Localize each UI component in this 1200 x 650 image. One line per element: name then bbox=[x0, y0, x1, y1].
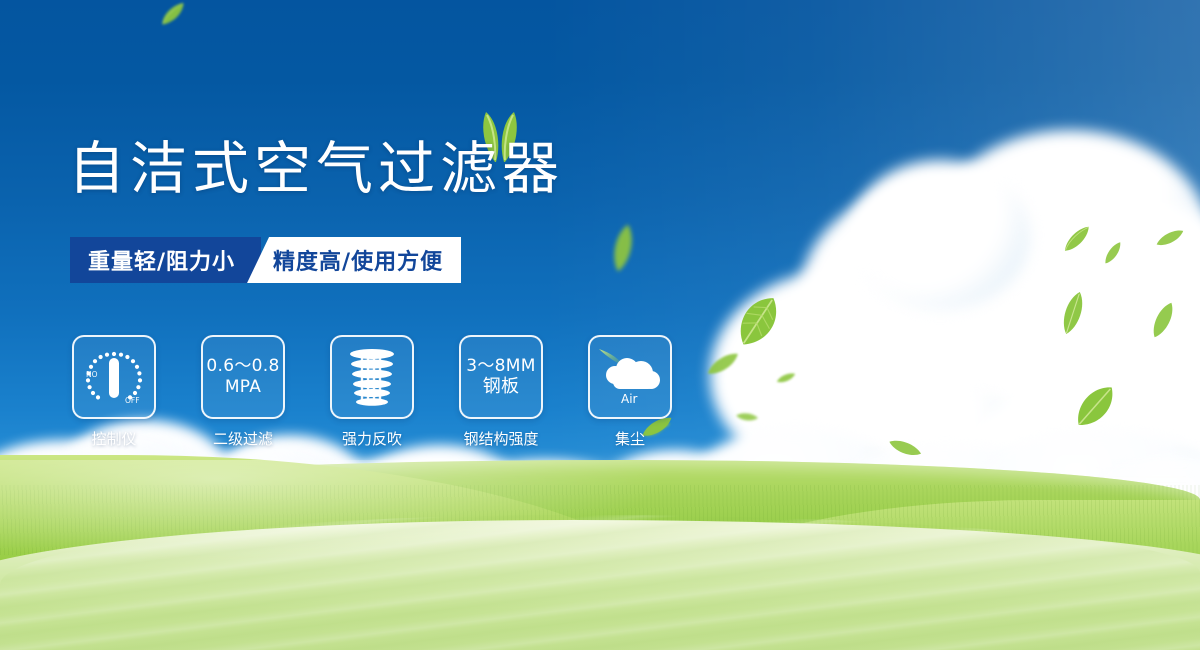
feature-item-control-panel[interactable]: NO OFF 控制仪 bbox=[70, 335, 158, 449]
feature-caption: 二级过滤 bbox=[213, 428, 273, 449]
feature-item-dust-collection[interactable]: Air 集尘 bbox=[586, 335, 674, 449]
feature-caption: 强力反吹 bbox=[342, 428, 402, 449]
subtitle-badge-right: 精度高/使用方便 bbox=[247, 237, 461, 283]
pleated-filter-icon bbox=[330, 335, 414, 419]
steel-thickness: 3～8MM bbox=[466, 356, 535, 377]
feature-item-two-stage-filter[interactable]: 0.6～0.8 MPA 二级过滤 bbox=[199, 335, 287, 449]
subtitle-bar: 重量轻/阻力小 精度高/使用方便 bbox=[70, 237, 461, 283]
air-label: Air bbox=[621, 392, 638, 406]
feature-item-strong-backflush[interactable]: 强力反吹 bbox=[328, 335, 416, 449]
steel-material: 钢板 bbox=[483, 376, 520, 398]
cloud-air-icon: Air bbox=[588, 335, 672, 419]
svg-text:NO: NO bbox=[86, 370, 98, 379]
subtitle-badge-left: 重量轻/阻力小 bbox=[70, 237, 261, 283]
svg-text:OFF: OFF bbox=[125, 396, 140, 405]
feature-item-steel-strength[interactable]: 3～8MM 钢板 钢结构强度 bbox=[457, 335, 545, 449]
pressure-text-icon: 0.6～0.8 MPA bbox=[201, 335, 285, 419]
steel-plate-text-icon: 3～8MM 钢板 bbox=[459, 335, 543, 419]
product-hero-banner: 自洁式空气过滤器 重量轻/阻力小 精度高/使用方便 bbox=[0, 0, 1200, 650]
page-title: 自洁式空气过滤器 bbox=[68, 141, 564, 198]
feature-caption: 钢结构强度 bbox=[463, 428, 538, 449]
grass-field bbox=[0, 460, 1200, 650]
pressure-value-line2: MPA bbox=[225, 377, 261, 398]
pressure-value-line1: 0.6～0.8 bbox=[206, 356, 279, 377]
dial-gauge-icon: NO OFF bbox=[72, 335, 156, 419]
feature-list: NO OFF 控制仪 0.6～0.8 MPA 二级过滤 bbox=[70, 335, 674, 449]
feature-caption: 控制仪 bbox=[91, 428, 136, 449]
feature-caption: 集尘 bbox=[615, 428, 645, 449]
